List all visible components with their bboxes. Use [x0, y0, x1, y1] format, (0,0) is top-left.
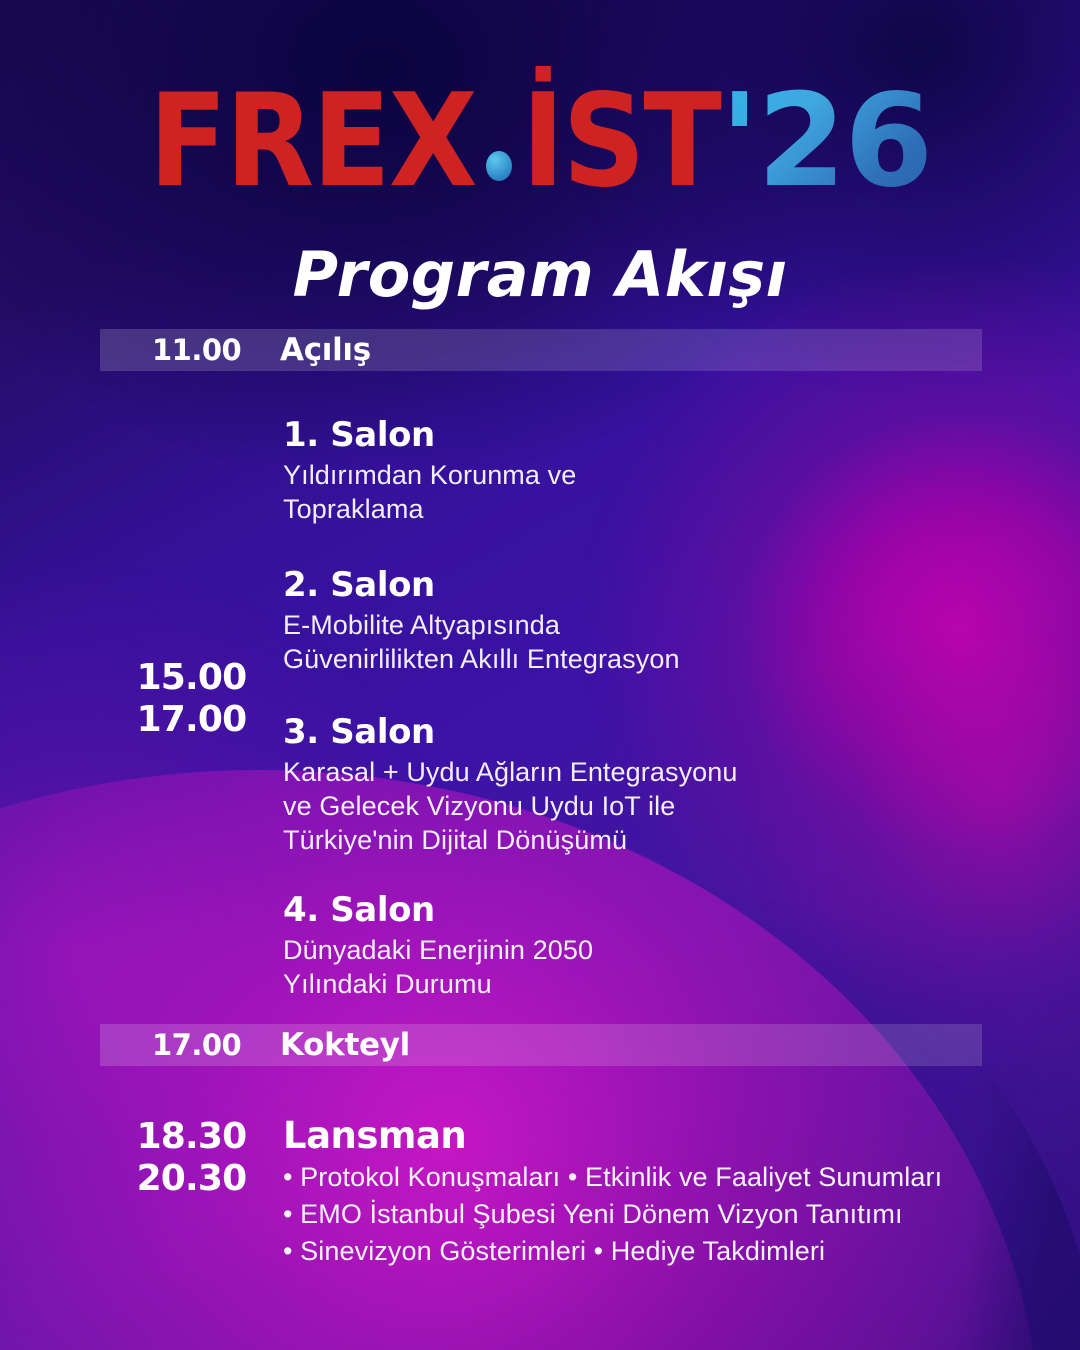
session-time-end: 17.00	[100, 699, 283, 741]
lansman-bullet-line: • Sinevizyon Gösterimleri • Hediye Takdi…	[283, 1233, 942, 1270]
band-time: 11.00	[100, 333, 280, 367]
salon-description-line: E-Mobilite Altyapısında	[283, 608, 680, 642]
lansman-block: Lansman • Protokol Konuşmaları • Etkinli…	[283, 1114, 942, 1270]
salon-title: 4. Salon	[283, 890, 593, 930]
salon-description-line: Topraklama	[283, 492, 576, 526]
dot-separator-icon	[486, 151, 512, 181]
schedule-band-cocktail: 17.00 Kokteyl	[100, 1024, 982, 1066]
salon-block-2: 2. Salon E-Mobilite Altyapısında Güvenir…	[283, 565, 680, 676]
salon-description-line: Dünyadaki Enerjinin 2050	[283, 933, 593, 967]
salon-description: Karasal + Uydu Ağların Entegrasyonu ve G…	[283, 755, 738, 857]
salon-block-1: 1. Salon Yıldırımdan Korunma ve Toprakla…	[283, 415, 576, 526]
event-program-poster: FREXİST'26 Program Akışı 11.00 Açılış 1.…	[0, 0, 1080, 1350]
session-time-range: 15.00 17.00	[100, 657, 283, 742]
salon-block-3: 3. Salon Karasal + Uydu Ağların Entegras…	[283, 712, 738, 857]
salon-description-line: Karasal + Uydu Ağların Entegrasyonu	[283, 755, 738, 789]
salon-description: E-Mobilite Altyapısında Güvenirlilikten …	[283, 608, 680, 676]
poster-content: FREXİST'26 Program Akışı 11.00 Açılış 1.…	[0, 0, 1080, 1350]
lansman-bullet-line: • Protokol Konuşmaları • Etkinlik ve Faa…	[283, 1159, 942, 1196]
salon-title: 1. Salon	[283, 415, 576, 455]
salon-description-line: Türkiye'nin Dijital Dönüşümü	[283, 823, 738, 857]
salon-title: 3. Salon	[283, 712, 738, 752]
salon-description: Dünyadaki Enerjinin 2050 Yılındaki Durum…	[283, 933, 593, 1001]
logo-text-ist: İST	[522, 67, 720, 216]
salon-title: 2. Salon	[283, 565, 680, 605]
schedule-band-opening: 11.00 Açılış	[100, 329, 982, 371]
band-label: Açılış	[280, 332, 371, 368]
salon-description-line: Yıldırımdan Korunma ve	[283, 458, 576, 492]
salon-description-line: ve Gelecek Vizyonu Uydu IoT ile	[283, 789, 738, 823]
salon-description-line: Yılındaki Durumu	[283, 967, 593, 1001]
salon-block-4: 4. Salon Dünyadaki Enerjinin 2050 Yılınd…	[283, 890, 593, 1001]
lansman-time-end: 20.30	[100, 1158, 283, 1200]
event-logo: FREXİST'26	[0, 78, 1080, 206]
band-time: 17.00	[100, 1028, 280, 1062]
salon-description-line: Güvenirlilikten Akıllı Entegrasyon	[283, 642, 680, 676]
salon-description: Yıldırımdan Korunma ve Topraklama	[283, 458, 576, 526]
page-title: Program Akışı	[0, 238, 1080, 311]
lansman-time-range: 18.30 20.30	[100, 1116, 283, 1201]
lansman-bullet-line: • EMO İstanbul Şubesi Yeni Dönem Vizyon …	[283, 1196, 942, 1233]
band-label: Kokteyl	[280, 1027, 410, 1063]
logo-text-year: '26	[720, 67, 931, 216]
logo-text-frex: FREX	[149, 67, 476, 216]
lansman-title: Lansman	[283, 1114, 942, 1157]
lansman-time-start: 18.30	[100, 1116, 283, 1158]
session-time-start: 15.00	[100, 657, 283, 699]
